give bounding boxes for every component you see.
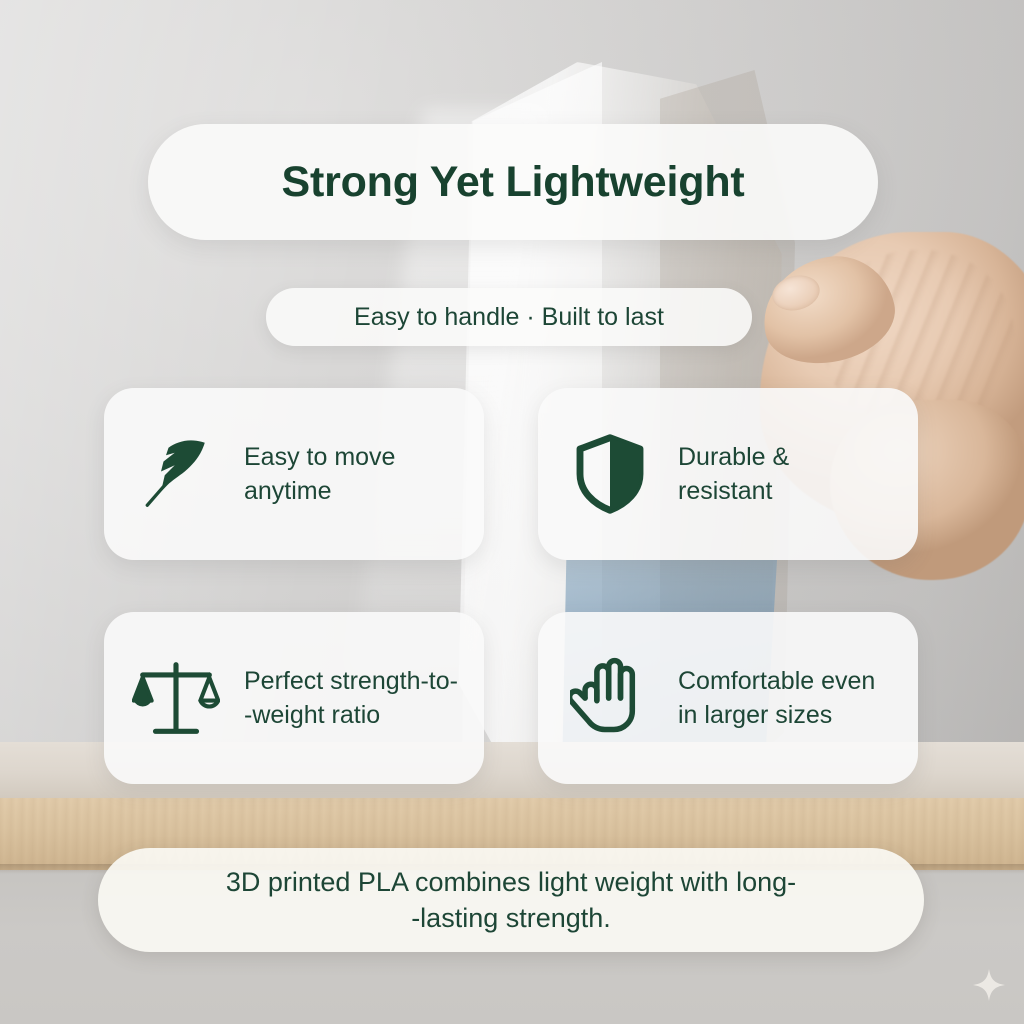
infographic-canvas: Strong Yet Lightweight Easy to handle · … (0, 0, 1024, 1024)
feature-label-line-2: resistant (678, 474, 789, 509)
feature-card-label: Durable & resistant (678, 440, 789, 509)
balance-scale-icon (130, 652, 222, 744)
feature-label-line-2: -weight ratio (244, 698, 458, 733)
feather-icon (130, 428, 222, 520)
feature-card-label: Easy to move anytime (244, 440, 395, 509)
page-title: Strong Yet Lightweight (281, 158, 744, 207)
subtitle-banner: Easy to handle · Built to last (266, 288, 752, 346)
feature-card-strength-to-weight[interactable]: Perfect strength-to- -weight ratio (104, 612, 484, 784)
feature-card-durable[interactable]: Durable & resistant (538, 388, 918, 560)
shield-icon (564, 428, 656, 520)
feature-card-label: Perfect strength-to- -weight ratio (244, 664, 458, 733)
caption-banner: 3D printed PLA combines light weight wit… (98, 848, 924, 952)
feature-label-line-1: Easy to move (244, 440, 395, 475)
feature-label-line-2: anytime (244, 474, 395, 509)
feature-card-easy-to-move[interactable]: Easy to move anytime (104, 388, 484, 560)
feature-label-line-1: Comfortable even (678, 664, 875, 699)
caption-text: 3D printed PLA combines light weight wit… (226, 864, 796, 937)
sparkle-icon (972, 968, 1006, 1002)
feature-card-label: Comfortable even in larger sizes (678, 664, 875, 733)
feature-label-line-1: Perfect strength-to- (244, 664, 458, 699)
feature-card-comfortable[interactable]: Comfortable even in larger sizes (538, 612, 918, 784)
title-banner: Strong Yet Lightweight (148, 124, 878, 240)
page-subtitle: Easy to handle · Built to last (354, 303, 664, 332)
feature-card-grid: Easy to move anytime Durable & resistant (104, 388, 922, 784)
feature-label-line-2: in larger sizes (678, 698, 875, 733)
open-hand-icon (564, 652, 656, 744)
caption-line-1: 3D printed PLA combines light weight wit… (226, 864, 796, 900)
feature-label-line-1: Durable & (678, 440, 789, 475)
caption-line-2: -lasting strength. (226, 900, 796, 936)
